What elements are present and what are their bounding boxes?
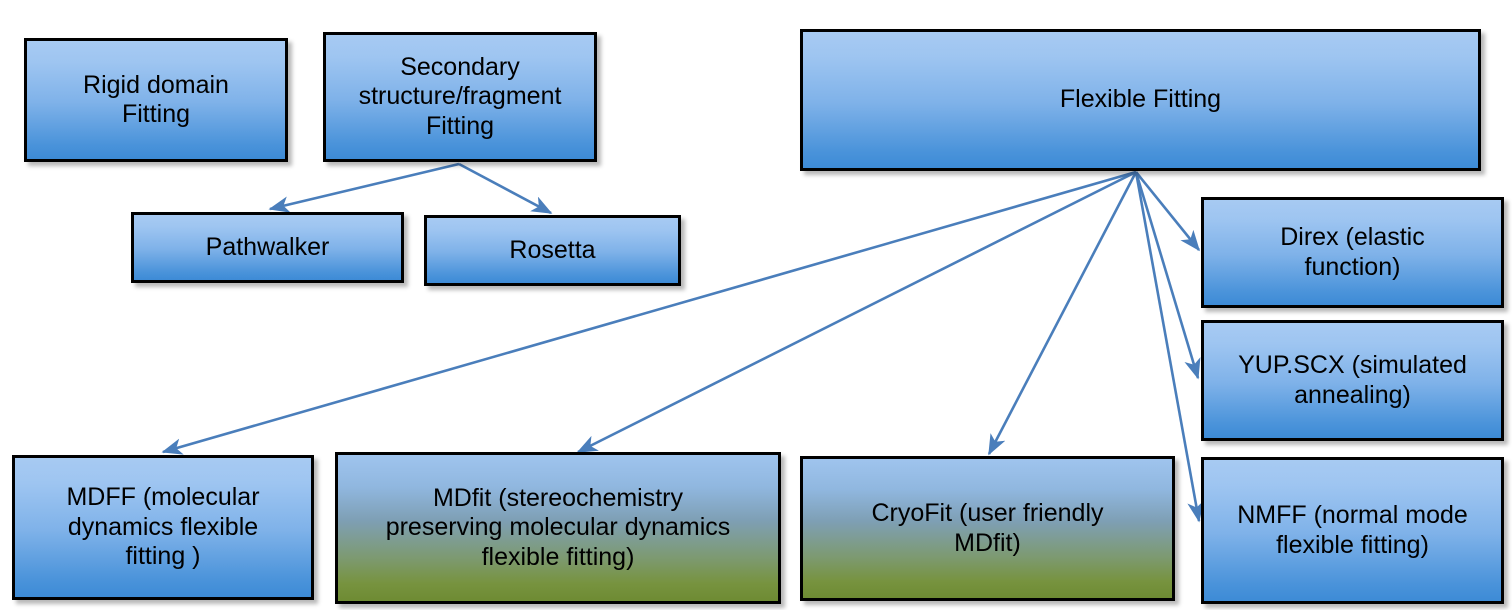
diagram-canvas: Rigid domain FittingSecondary structure/… (0, 0, 1512, 610)
node-direx[interactable]: Direx (elastic function) (1201, 197, 1504, 308)
node-rigid-domain-fitting[interactable]: Rigid domain Fitting (24, 38, 288, 162)
node-secondary-structure-fragment-fitting[interactable]: Secondary structure/fragment Fitting (323, 32, 597, 162)
node-mdff[interactable]: MDFF (molecular dynamics flexible fittin… (12, 455, 314, 600)
edge-secondary-to-rosetta (459, 164, 551, 213)
node-mdfit[interactable]: MDfit (stereochemistry preserving molecu… (335, 452, 781, 604)
node-rosetta[interactable]: Rosetta (424, 215, 681, 286)
node-flexible-fitting[interactable]: Flexible Fitting (800, 29, 1481, 171)
edge-flexible-to-mdfit (578, 172, 1136, 452)
edge-flexible-to-cryofit (989, 172, 1136, 454)
node-nmff[interactable]: NMFF (normal mode flexible fitting) (1201, 457, 1504, 604)
node-pathwalker[interactable]: Pathwalker (131, 212, 404, 283)
edge-flexible-to-yupscx (1136, 172, 1198, 378)
edge-flexible-to-direx (1136, 172, 1199, 250)
node-cryofit[interactable]: CryoFit (user friendly MDfit) (800, 456, 1175, 601)
edge-secondary-to-pathwalker (270, 164, 459, 209)
node-yup-scx[interactable]: YUP.SCX (simulated annealing) (1201, 320, 1504, 441)
